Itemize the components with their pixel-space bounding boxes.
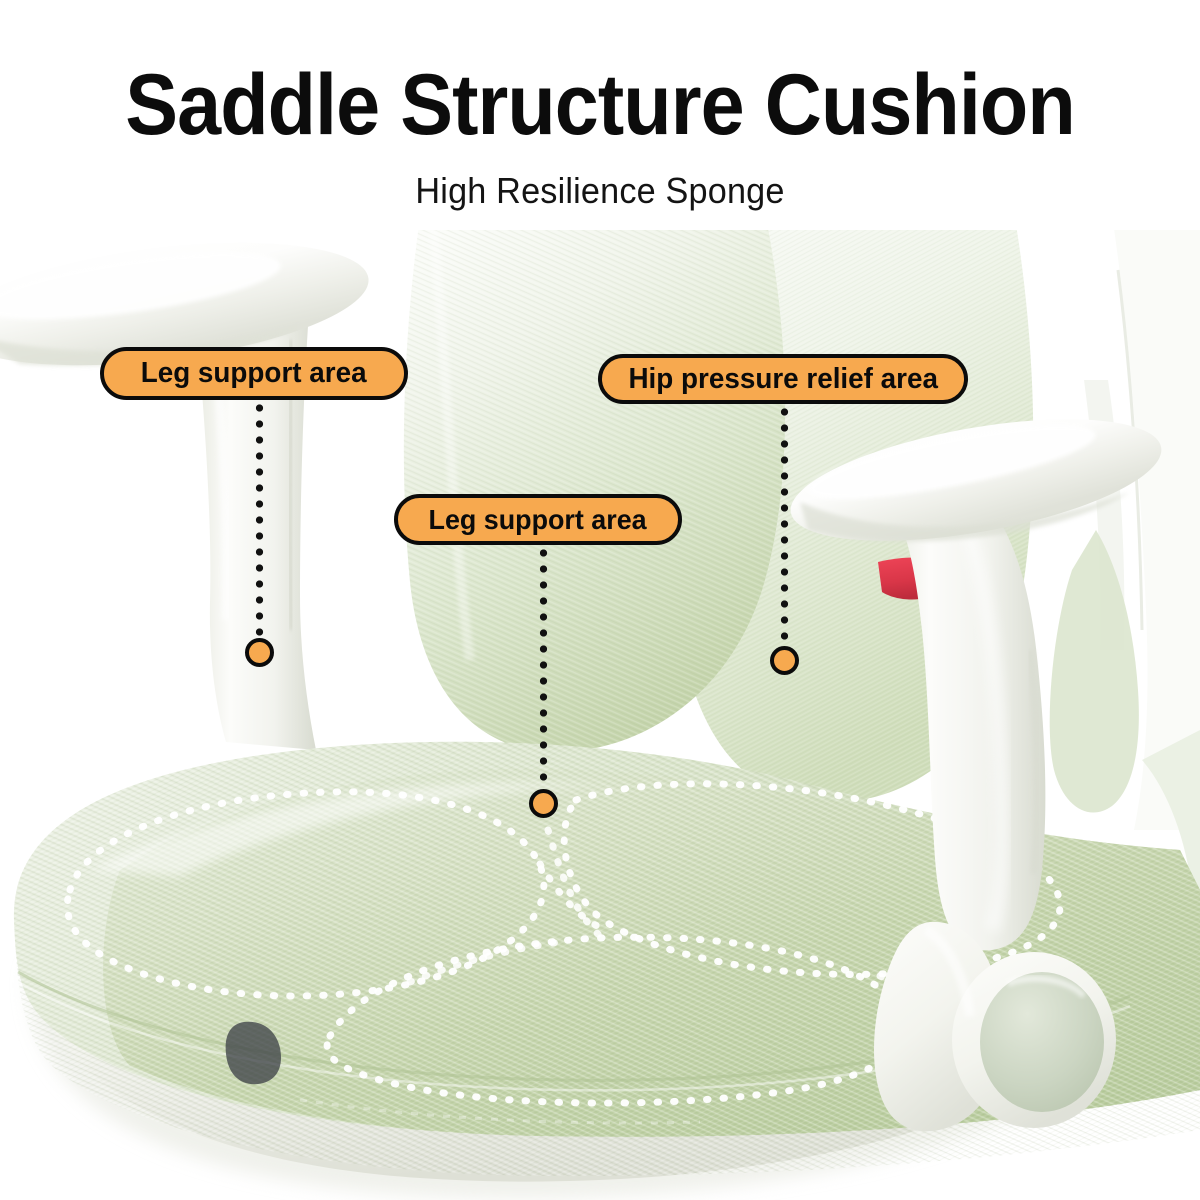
infographic-page: Saddle Structure Cushion High Resilience… [0, 0, 1200, 1200]
connector-line-hip-pressure-relief [780, 404, 789, 650]
header: Saddle Structure Cushion High Resilience… [0, 0, 1200, 212]
callout-label-leg-support-lower: Leg support area [429, 504, 647, 536]
callout-badge-leg-support-lower[interactable]: Leg support area [394, 494, 682, 545]
caster-hub [980, 972, 1104, 1112]
connector-line-leg-support-lower [539, 545, 548, 795]
callout-badge-leg-support-upper[interactable]: Leg support area [100, 347, 408, 400]
page-subtitle: High Resilience Sponge [30, 170, 1170, 212]
connector-line-leg-support-upper [255, 400, 264, 640]
page-title: Saddle Structure Cushion [48, 62, 1152, 148]
callout-badge-hip-pressure-relief[interactable]: Hip pressure relief area [598, 354, 968, 404]
endpoint-dot-leg-support-lower [529, 789, 558, 818]
callout-label-leg-support-upper: Leg support area [141, 357, 367, 390]
callout-label-hip-pressure-relief: Hip pressure relief area [628, 363, 937, 396]
endpoint-dot-hip-pressure-relief [770, 646, 799, 675]
endpoint-dot-leg-support-upper [245, 638, 274, 667]
